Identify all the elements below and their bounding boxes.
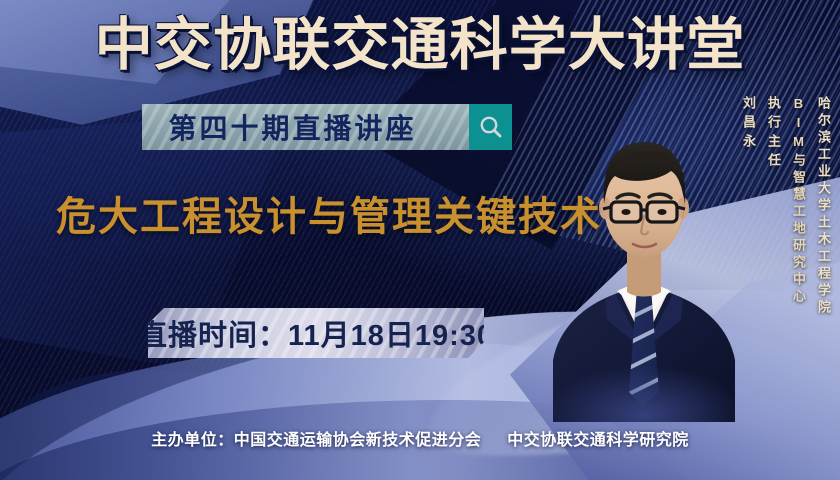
episode-banner: 第四十期直播讲座 bbox=[142, 104, 512, 150]
livestream-time-banner: 直播时间：11月18日19:30 bbox=[148, 308, 484, 358]
footer-organizers: 主办单位：中国交通运输协会新技术促进分会中交协联交通科学研究院 bbox=[0, 426, 840, 450]
speaker-info-vertical: 刘昌永 执行主任 BIM与智慧工地研究中心 哈尔滨工业大学土木工程学院 bbox=[732, 96, 832, 317]
speaker-role: 执行主任 bbox=[764, 96, 782, 172]
speaker-name: 刘昌永 bbox=[739, 96, 757, 153]
lecture-title: 危大工程设计与管理关键技术 bbox=[56, 190, 602, 244]
speaker-org-school: 哈尔滨工业大学土木工程学院 bbox=[814, 96, 832, 317]
page-title: 中交协联交通科学大讲堂 bbox=[0, 12, 840, 78]
speaker-portrait bbox=[553, 92, 735, 422]
speaker-org-center: BIM与智慧工地研究中心 bbox=[789, 96, 807, 306]
livestream-poster: 中交协联交通科学大讲堂 第四十期直播讲座 危大工程设计与管理关键技术 直播时间：… bbox=[0, 0, 840, 480]
footer-organizer-primary: 主办单位：中国交通运输协会新技术促进分会 bbox=[151, 432, 481, 449]
footer-organizer-secondary: 中交协联交通科学研究院 bbox=[507, 432, 689, 449]
search-button[interactable] bbox=[469, 104, 512, 150]
livestream-time-text: 直播时间：11月18日19:30 bbox=[148, 312, 484, 354]
episode-label: 第四十期直播讲座 bbox=[154, 107, 456, 147]
episode-banner-body: 第四十期直播讲座 bbox=[142, 104, 469, 150]
search-icon bbox=[478, 114, 504, 140]
